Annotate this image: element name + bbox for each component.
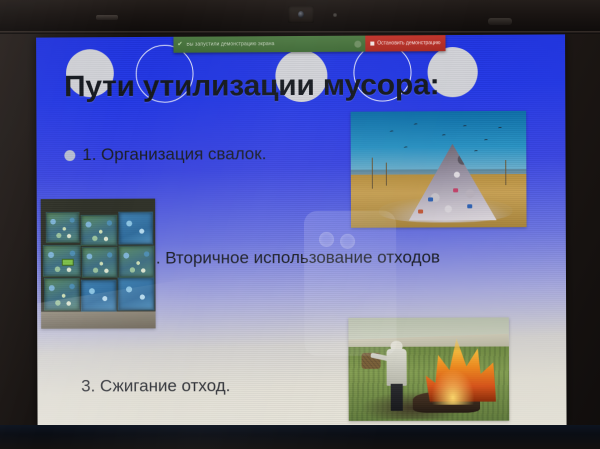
bezel-vent-left — [96, 15, 118, 20]
slide-bullet-3: 3. Сжигание отход. — [81, 376, 230, 396]
monitor-bottom-bezel — [0, 425, 600, 449]
slide-bullet-2-label: 2. Вторичное использование отходов — [146, 247, 440, 268]
screen-share-toolbar[interactable]: ✔ Вы запустили демонстрацию экрана Остан… — [173, 35, 445, 53]
stop-share-button[interactable]: Остановить демонстрацию — [365, 35, 445, 52]
reflected-camera-lens-icon-2 — [340, 234, 355, 249]
status-led-icon — [333, 13, 337, 17]
stop-share-label: Остановить демонстрацию — [377, 41, 440, 46]
monitor-bezel-edge — [0, 31, 600, 34]
pause-share-icon[interactable] — [354, 40, 361, 47]
reflected-camera-lens-icon — [319, 232, 334, 247]
check-icon: ✔ — [177, 42, 183, 48]
burning-waste-photo — [348, 317, 509, 421]
bezel-vent-right — [488, 18, 512, 25]
monitor-screen: Пути утилизации мусора: 1. Организация с… — [36, 34, 566, 426]
bullet-dot-icon — [64, 150, 75, 161]
plastic-bales-photo — [41, 199, 156, 329]
share-status-label: Вы запустили демонстрацию экрана — [186, 42, 274, 48]
slide-title: Пути утилизации мусора: — [64, 68, 544, 105]
share-status-strip: ✔ Вы запустили демонстрацию экрана — [173, 36, 365, 53]
presentation-slide: Пути утилизации мусора: 1. Организация с… — [36, 34, 566, 426]
stop-square-icon — [370, 42, 374, 46]
monitor-photo: Пути утилизации мусора: 1. Организация с… — [0, 0, 600, 449]
landfill-photo — [351, 111, 527, 228]
slide-bullet-1: 1. Организация свалок. — [64, 144, 266, 165]
webcam-lens-icon — [298, 11, 304, 18]
slide-bullet-2: 2. Вторичное использование отходов — [146, 247, 440, 268]
slide-bullet-3-label: 3. Сжигание отход. — [81, 376, 230, 396]
slide-bullet-1-label: 1. Организация свалок. — [82, 144, 266, 165]
